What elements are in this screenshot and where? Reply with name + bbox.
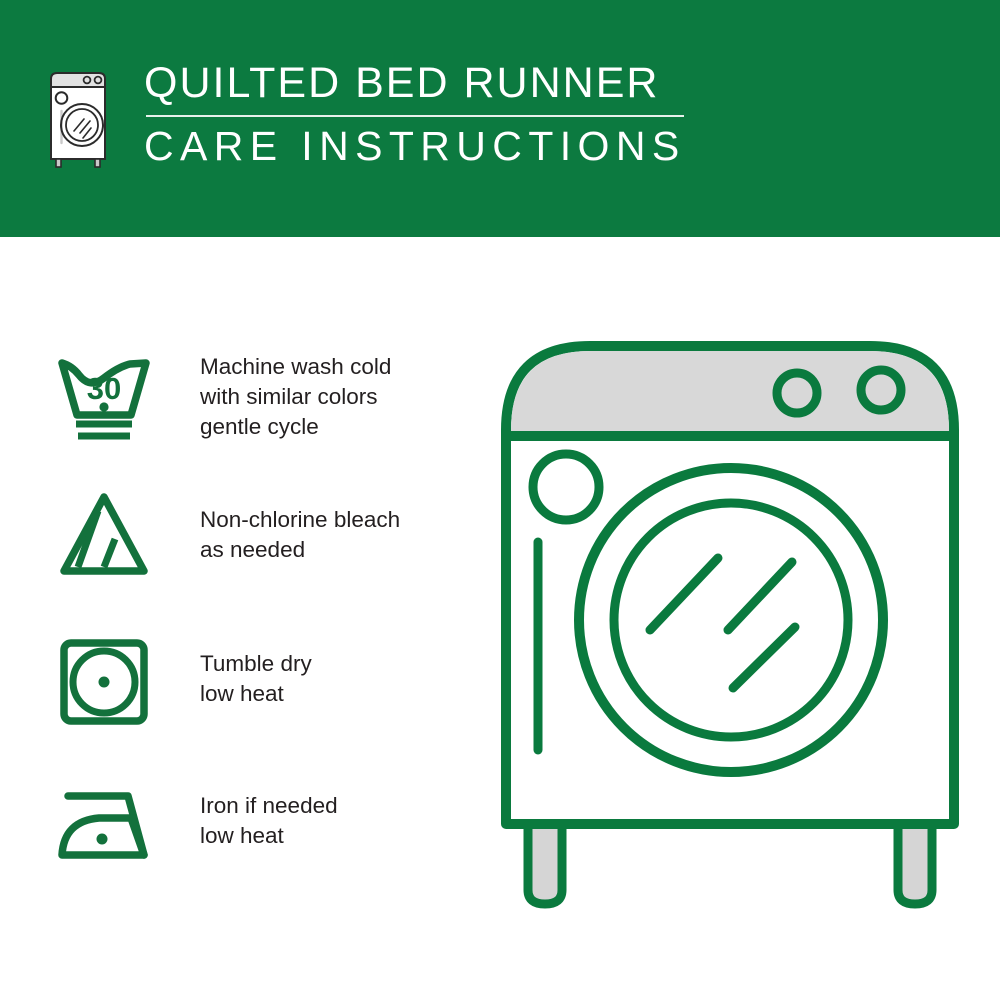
washing-machine-icon <box>46 67 118 171</box>
header-banner: QUILTED BED RUNNER CARE INSTRUCTIONS <box>0 0 1000 237</box>
care-instructions-infographic: QUILTED BED RUNNER CARE INSTRUCTIONS <box>0 0 1000 1000</box>
washer-control-panel <box>511 351 949 436</box>
care-instruction-list: 30 Machine wash cold with similar colors… <box>0 237 470 1000</box>
care-instruction-row: 30 Machine wash cold with similar colors… <box>52 345 391 449</box>
page-subtitle: CARE INSTRUCTIONS <box>144 125 686 168</box>
header-title-group: QUILTED BED RUNNER CARE INSTRUCTIONS <box>144 62 686 168</box>
care-instruction-row: Tumble dry low heat <box>52 627 312 731</box>
page-title: QUILTED BED RUNNER <box>144 62 686 106</box>
care-instruction-text: Machine wash cold with similar colors ge… <box>200 352 391 442</box>
iron-low-heat-icon <box>52 769 156 873</box>
front-load-washing-machine-illustration <box>470 330 990 940</box>
care-instruction-text: Tumble dry low heat <box>200 649 312 709</box>
wash-temperature-label: 30 <box>87 371 121 406</box>
care-instruction-row: Non-chlorine bleach as needed <box>52 483 400 587</box>
machine-wash-cold-gentle-icon: 30 <box>52 345 156 449</box>
title-divider <box>146 115 684 117</box>
care-instruction-row: Iron if needed low heat <box>52 769 338 873</box>
care-instruction-text: Iron if needed low heat <box>200 791 338 851</box>
non-chlorine-bleach-icon <box>52 483 156 587</box>
tumble-dry-low-heat-icon <box>52 627 156 731</box>
care-instruction-text: Non-chlorine bleach as needed <box>200 505 400 565</box>
header-content: QUILTED BED RUNNER CARE INSTRUCTIONS <box>46 62 686 171</box>
